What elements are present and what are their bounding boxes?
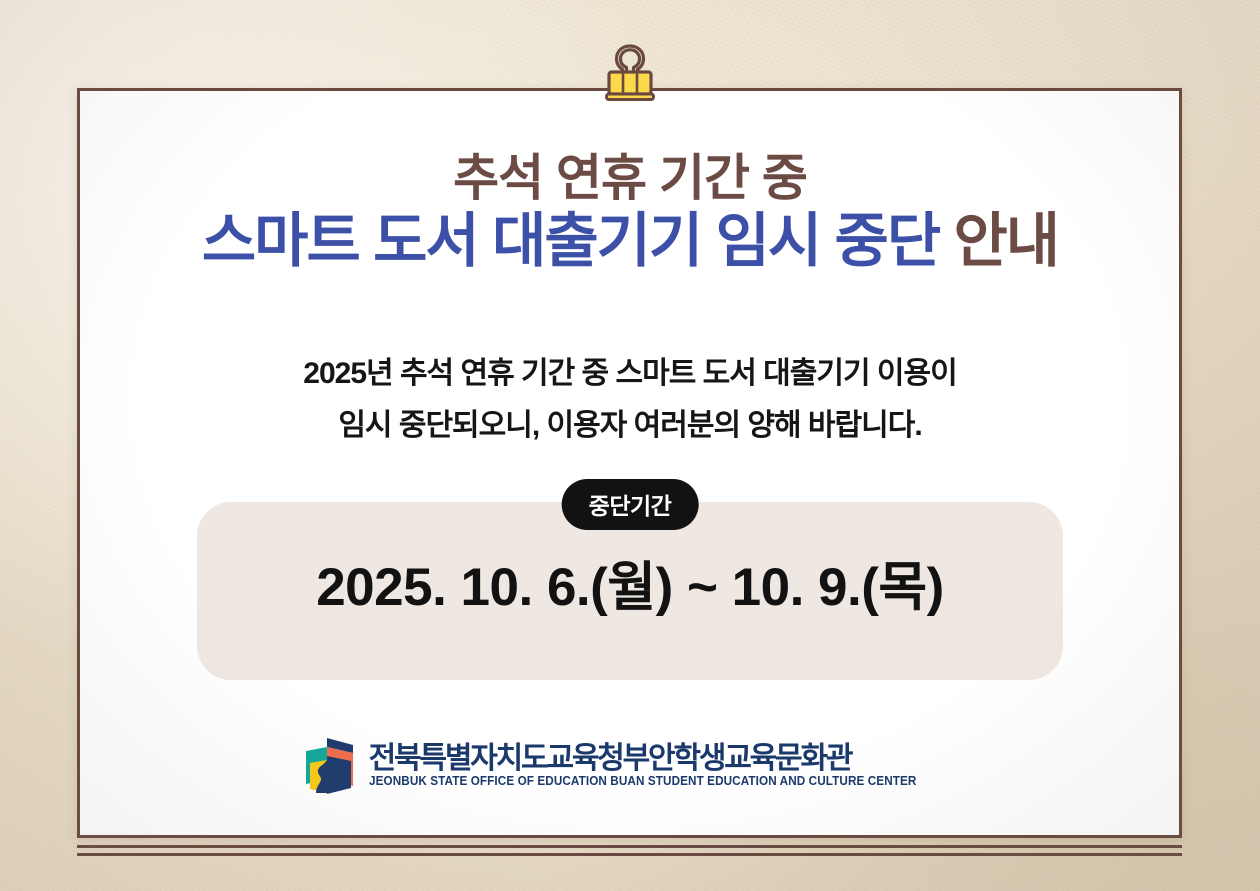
logo-name-english: JEONBUK STATE OFFICE OF EDUCATION BUAN S… [369,775,916,789]
notice-body-line-1: 2025년 추석 연휴 기간 중 스마트 도서 대출기기 이용이 [0,348,1260,400]
title-highlight: 스마트 도서 대출기기 임시 중단 [202,208,939,274]
period-badge: 중단기간 [562,479,699,530]
title-line-1: 추석 연휴 기간 중 [0,150,1260,206]
title-line-2: 스마트 도서 대출기기 임시 중단 안내 [0,208,1260,274]
period-dates: 2025. 10. 6.(월) ~ 10. 9.(목) [197,545,1063,621]
frame-bottom-rule-1 [77,845,1182,848]
logo-text-block: 전북특별자치도교육청부안학생교육문화관 JEONBUK STATE OFFICE… [369,743,958,790]
frame-bottom-rule-2 [77,853,1182,856]
organization-logo: 전북특별자치도교육청부안학생교육문화관 JEONBUK STATE OFFICE… [0,736,1260,796]
logo-name-korean: 전북특별자치도교육청부안학생교육문화관 [369,743,958,775]
notice-body-line-2: 임시 중단되오니, 이용자 여러분의 양해 바랍니다. [0,400,1260,452]
page-title: 추석 연휴 기간 중 스마트 도서 대출기기 임시 중단 안내 [0,150,1260,274]
open-book-face-logo-icon [303,736,356,796]
binder-clip-icon [596,42,664,104]
notice-body: 2025년 추석 연휴 기간 중 스마트 도서 대출기기 이용이 임시 중단되오… [0,348,1260,451]
title-suffix: 안내 [939,208,1058,274]
